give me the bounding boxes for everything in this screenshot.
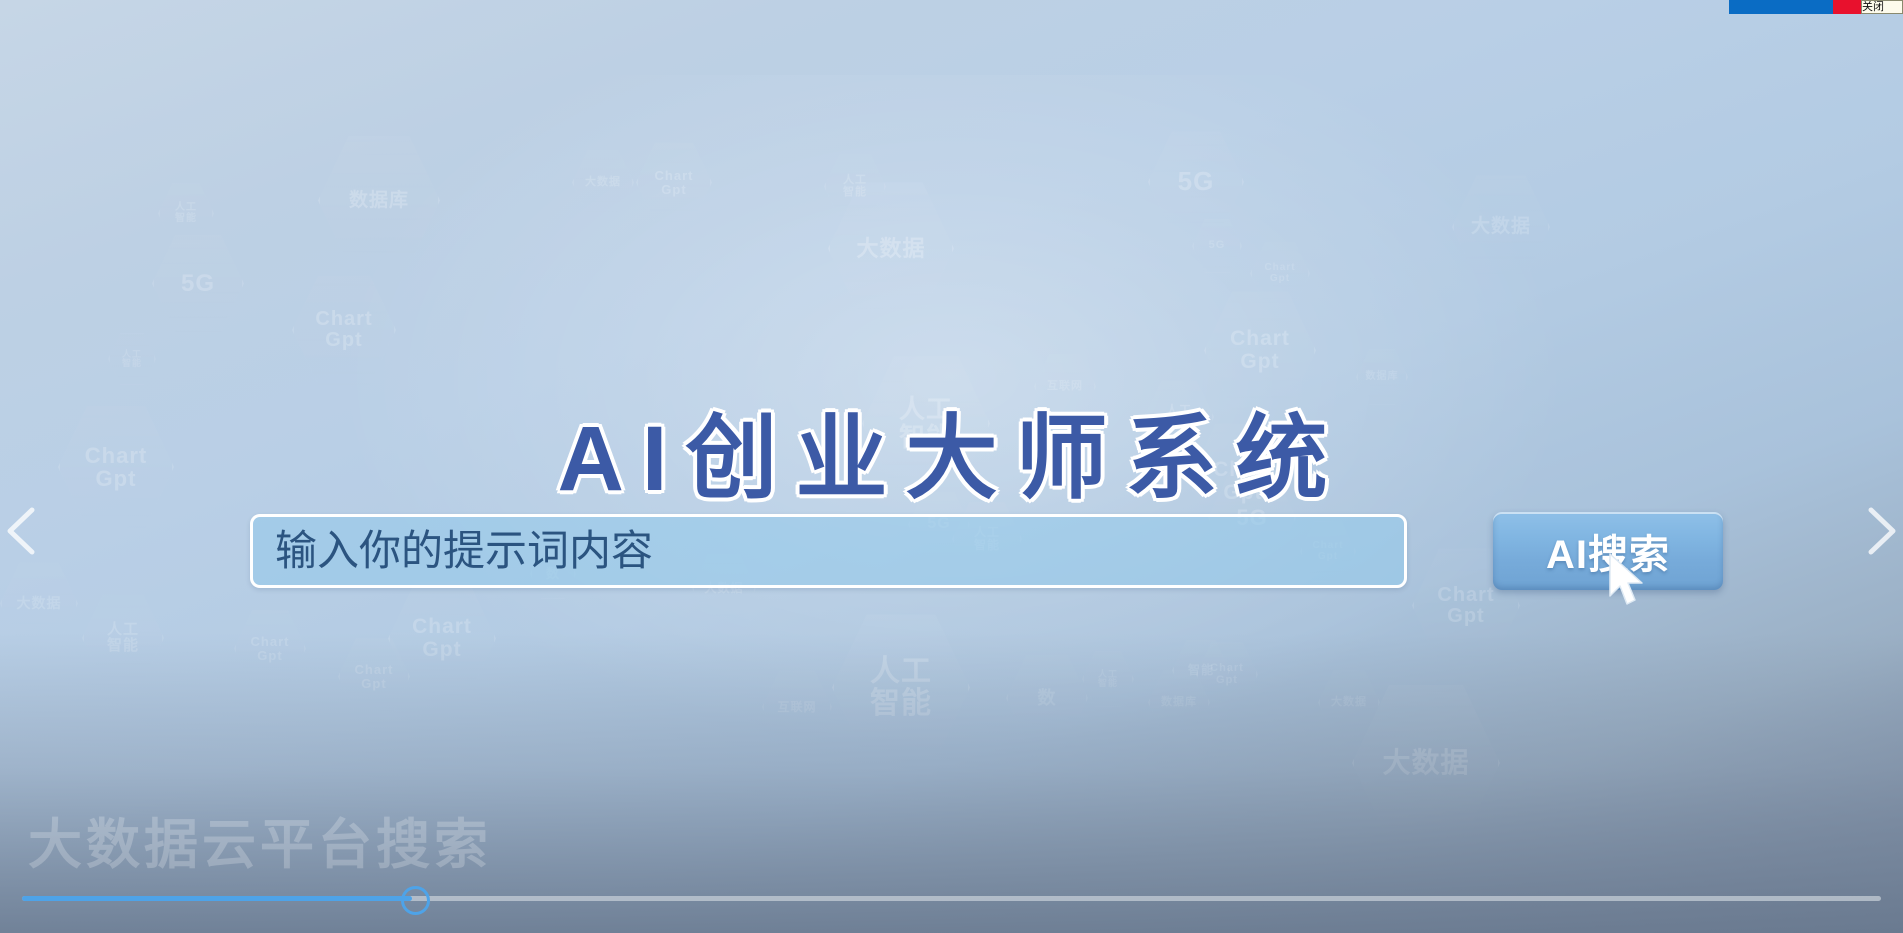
background-hexagon: 大数据 [572,148,634,217]
background-hexagon-label: 人工智能 [122,350,142,369]
background-hexagon: ChartGpt [636,140,712,225]
background-hexagon: 大数据 [1352,680,1500,846]
background-hexagon: 大数据 [828,178,954,319]
background-hexagon: 数据库 [1148,668,1210,737]
taskbar-close-segment[interactable] [1833,0,1861,14]
background-hexagon-label: 人工智能 [843,175,867,198]
close-tooltip: 关闭 [1861,0,1903,14]
background-hexagon-label: 数 [1038,689,1057,708]
background-hexagon: 5G [1148,128,1244,236]
background-hexagon-label: 数据库 [349,191,409,211]
background-hexagon: 数据库 [318,132,440,269]
background-hexagon-label: ChartGpt [355,663,394,690]
background-hexagon-label: 大数据 [585,177,621,189]
background-hexagon-label: 人工智能 [1098,670,1118,689]
background-hexagon-label: 人工智能 [107,622,139,654]
background-hexagon-label: ChartGpt [412,616,472,660]
background-hexagon: 智能 [1172,638,1230,703]
background-hexagon-label: 大数据 [1471,217,1531,237]
background-hexagon-label: 互联网 [777,701,816,714]
background-hexagon-label: 智能 [1188,664,1214,677]
background-hexagon-label: ChartGpt [655,169,694,196]
background-hexagon: ChartGpt [1250,240,1310,307]
watermark-text: 大数据云平台搜索 [28,800,492,879]
search-bar-row: AI搜索 [250,510,1730,592]
background-hexagon: ChartGpt [292,272,396,388]
background-hexagon: 数 [1006,652,1088,744]
background-hexagon-label: 大数据 [856,237,925,260]
carousel-next-arrow-icon[interactable] [1859,500,1901,562]
background-hexagon-label: 大数据 [1382,748,1469,777]
page-title: AI创业大师系统 [0,384,1903,517]
background-hexagon-label: 人工智能 [175,203,197,224]
background-hexagon: 大数据 [0,560,78,647]
background-hexagon: 5G [152,232,244,335]
taskbar-blue-segment[interactable] [1729,0,1833,14]
background-hexagon-label: 5G [1178,168,1215,195]
background-hexagon: 人工智能 [82,592,164,684]
background-hexagon-label: 大数据 [1331,697,1367,709]
background-hexagon: 大数据 [1452,172,1550,282]
background-hexagon: 互联网 [762,668,832,746]
media-progress-slider[interactable] [0,887,1903,909]
background-hexagon: ChartGpt [234,608,306,689]
background-hexagon-label: ChartGpt [315,309,372,351]
background-hexagon: 5G [1192,218,1242,274]
background-hexagon-label: 大数据 [17,596,62,611]
carousel-prev-arrow-icon[interactable] [2,500,44,562]
background-hexagon-label: ChartGpt [1230,328,1290,372]
progress-handle[interactable] [401,886,430,915]
background-hexagon: 人工智能 [1082,650,1134,708]
taskbar-strip: 关闭 [1729,0,1903,14]
background-hexagon-label: 5G [1209,240,1226,252]
background-hexagon: 大数据 [1318,668,1380,737]
background-hexagon-label: 数据库 [1366,372,1399,383]
ai-search-button[interactable]: AI搜索 [1493,512,1723,590]
background-hexagon-label: 人工智能 [870,656,932,719]
progress-fill [22,896,412,901]
background-hexagon-label: 5G [181,271,215,296]
background-hexagon: ChartGpt [1196,640,1258,709]
background-hexagon-label: ChartGpt [251,635,290,662]
background-hexagon: ChartGpt [338,636,410,717]
background-hexagon-label: ChartGpt [1264,263,1295,284]
background-hexagon: 人工智能 [158,182,214,245]
background-hexagon-label: 数据库 [1161,697,1197,709]
background-hexagon-label: ChartGpt [1210,663,1244,686]
background-hexagon: 人工智能 [108,332,156,386]
background-hexagon: ChartGpt [388,578,496,699]
ai-search-landing-page: 数据库大数据ChartGpt人工智能大数据5G5GChartGpt大数据人工智能… [0,0,1903,933]
prompt-search-input[interactable] [250,514,1407,588]
background-hexagon: 人工智能 [824,152,886,221]
background-hexagon: 人工智能 [832,610,970,765]
